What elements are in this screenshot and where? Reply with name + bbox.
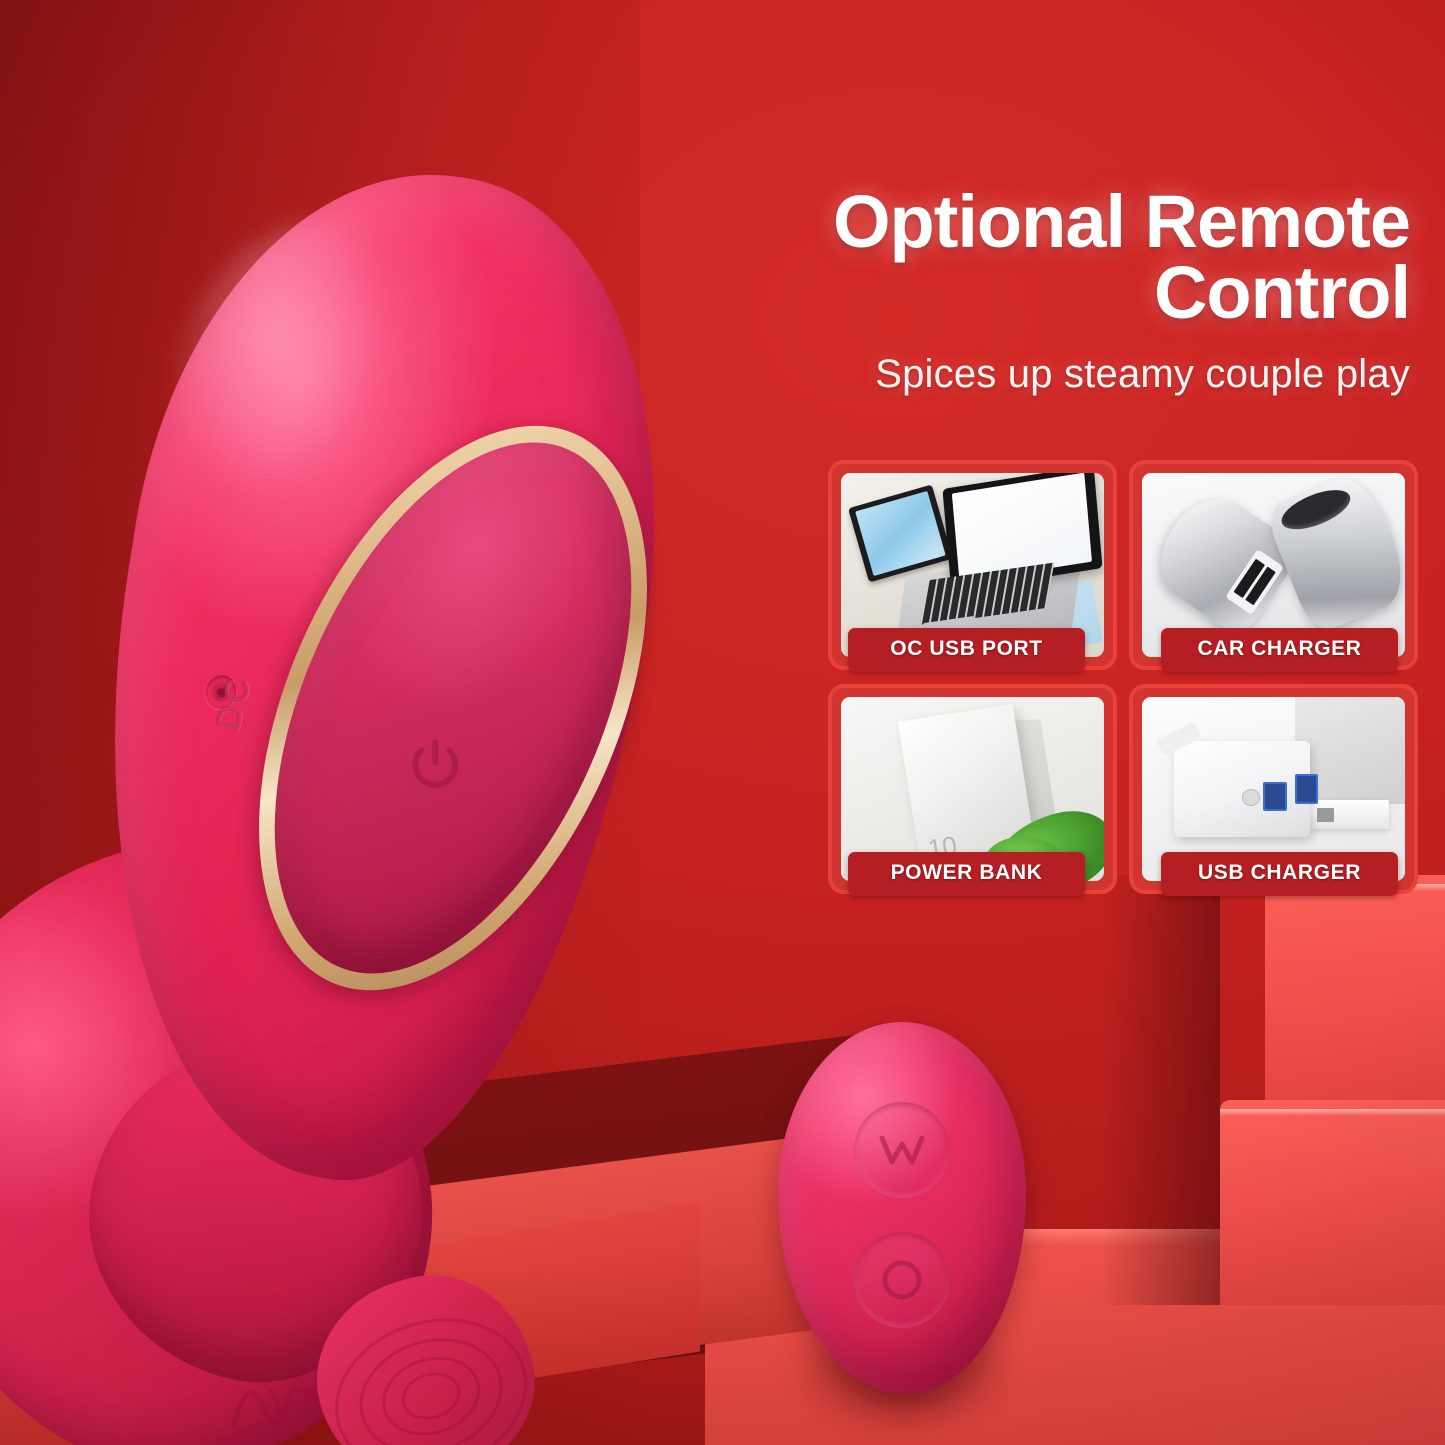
product-marketing-image: DC Optional Remote Control Spices up ste… <box>0 0 1445 1445</box>
vignette-overlay <box>0 0 1445 1445</box>
